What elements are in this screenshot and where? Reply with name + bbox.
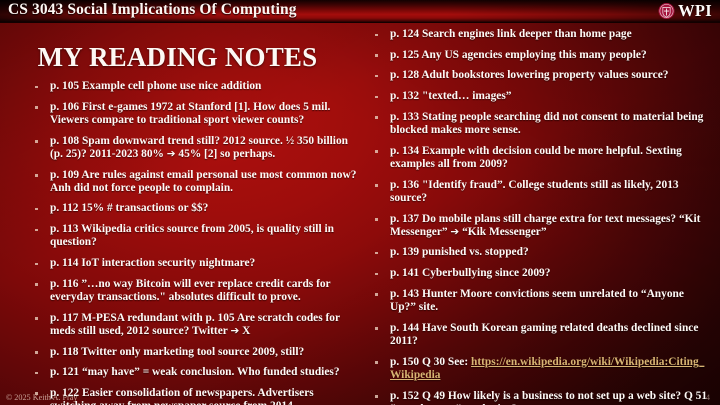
bullet-item-p106: p. 106 First e-games 1972 at Stanford [1… [28,101,358,127]
bullet-item-p113: p. 113 Wikipedia critics source from 200… [28,223,358,249]
page-title: MY READING NOTES [0,42,355,73]
bullet-item-p132: p. 132 "texted… images” [368,90,712,103]
bullet-item-p114: p. 114 IoT interaction security nightmar… [28,257,358,270]
slide-header-band: CS 3043 Social Implications Of Computing… [0,0,720,23]
brand-wordmark: WPI [678,1,712,21]
bullet-item-p124: p. 124 Search engines link deeper than h… [368,28,712,41]
bullet-item-p136: p. 136 "Identify fraud”. College student… [368,179,712,205]
bullet-item-p144: p. 144 Have South Korean gaming related … [368,322,712,348]
bullet-item-p137: p. 137 Do mobile plans still charge extr… [368,213,712,239]
bullet-item-p116: p. 116 ”…no way Bitcoin will ever replac… [28,278,358,304]
reading-notes-right-column: p. 124 Search engines link deeper than h… [368,28,712,405]
slide-canvas: CS 3043 Social Implications Of Computing… [0,0,720,405]
citing-wikipedia-link[interactable]: https://en.wikipedia.org/wiki/Wikipedia:… [390,356,704,381]
course-title: CS 3043 Social Implications Of Computing [8,1,297,19]
bullet-item-p118: p. 118 Twitter only marketing tool sourc… [28,346,358,359]
bullet-item-p150: p. 150 Q 30 See: https://en.wikipedia.or… [368,356,712,382]
page-number: 4 [706,393,710,402]
reading-notes-left-column: p. 105 Example cell phone use nice addit… [28,80,358,405]
bullet-item-p117: p. 117 M-PESA redundant with p. 105 Are … [28,312,358,338]
wpi-seal-icon [658,2,675,20]
bullet-item-p108: p. 108 Spam downward trend still? 2012 s… [28,135,358,161]
bullet-item-p134: p. 134 Example with decision could be mo… [368,145,712,171]
bullet-item-p128: p. 128 Adult bookstores lowering propert… [368,69,712,82]
bullet-item-p112: p. 112 15% # transactions or $$? [28,202,358,215]
bullet-item-p141: p. 141 Cyberbullying since 2009? [368,267,712,280]
bullet-item-p125: p. 125 Any US agencies employing this ma… [368,49,712,62]
bullet-list-left: p. 105 Example cell phone use nice addit… [28,80,358,405]
bullet-item-p109: p. 109 Are rules against email personal … [28,169,358,195]
brand-lockup: WPI [658,1,712,21]
bullet-item-p152: p. 152 Q 49 How likely is a business to … [368,390,712,405]
bullet-list-right: p. 124 Search engines link deeper than h… [368,28,712,405]
bullet-item-p139: p. 139 punished vs. stopped? [368,246,712,259]
bullet-item-p105: p. 105 Example cell phone use nice addit… [28,80,358,93]
bullet-item-p143: p. 143 Hunter Moore convictions seem unr… [368,288,712,314]
bullet-item-p133: p. 133 Stating people searching did not … [368,111,712,137]
bullet-item-p121: p. 121 “may have” = weak conclusion. Who… [28,366,358,379]
copyright-notice: © 2025 Keith A. Pray [6,393,78,402]
